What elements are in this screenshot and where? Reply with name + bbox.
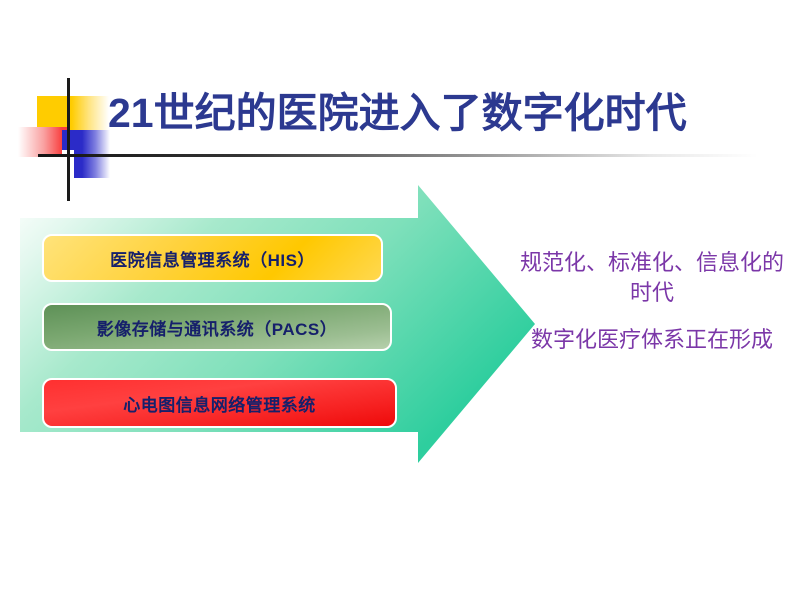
- title-underline-rule: [38, 154, 758, 157]
- outcome-text-standardization: 规范化、标准化、信息化的时代: [518, 248, 786, 308]
- slide-canvas: 21世纪的医院进入了数字化时代 医院信息管理系统（HIS） 影像存储与通讯系统（…: [0, 0, 800, 600]
- outcome-text-digital-healthcare: 数字化医疗体系正在形成: [518, 325, 786, 355]
- system-box-his[interactable]: 医院信息管理系统（HIS）: [42, 234, 383, 282]
- system-box-ecg-label: 心电图信息网络管理系统: [123, 391, 316, 416]
- system-box-his-label: 医院信息管理系统（HIS）: [110, 246, 315, 271]
- page-title: 21世纪的医院进入了数字化时代: [108, 84, 687, 142]
- system-box-pacs-label: 影像存储与通讯系统（PACS）: [97, 315, 337, 340]
- system-box-ecg[interactable]: 心电图信息网络管理系统: [42, 378, 397, 428]
- system-box-pacs[interactable]: 影像存储与通讯系统（PACS）: [42, 303, 392, 351]
- deco-red-square: [18, 127, 68, 157]
- deco-vertical-rule: [67, 78, 70, 201]
